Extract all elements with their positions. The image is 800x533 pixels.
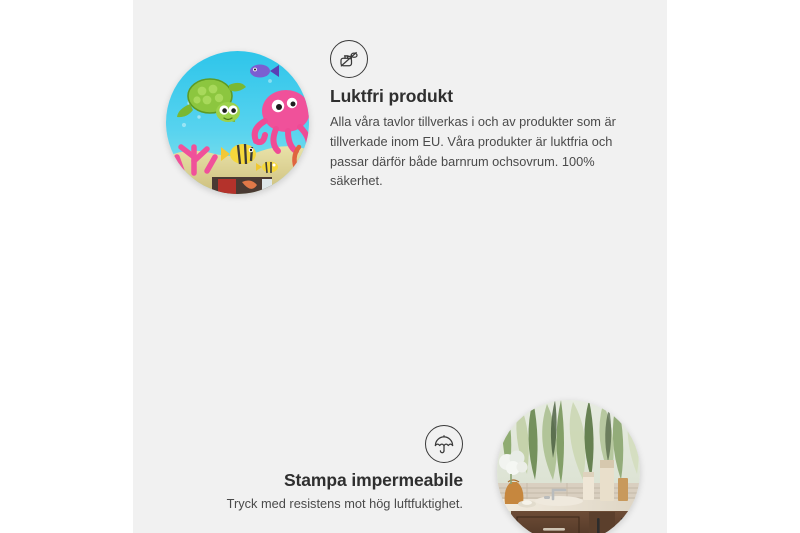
feature-block-odourless: Luktfri produkt Alla våra tavlor tillver… xyxy=(0,0,800,205)
underwater-cartoon-scene-photo xyxy=(166,51,309,194)
feature-block-easy-mounting: Enkel montering Färgdig på 60 minuter. xyxy=(0,335,800,533)
feature-block-waterproof-print: Stampa impermeabile Tryck med resistens … xyxy=(0,195,800,345)
feature-title: Luktfri produkt xyxy=(330,86,630,107)
promo-infographic: Luktfri produkt Alla våra tavlor tillver… xyxy=(0,0,800,533)
no-perfume-spray-icon xyxy=(330,40,368,78)
feature-text-odourless: Luktfri produkt Alla våra tavlor tillver… xyxy=(330,40,630,191)
feature-description: Alla våra tavlor tillverkas i och av pro… xyxy=(330,112,630,191)
